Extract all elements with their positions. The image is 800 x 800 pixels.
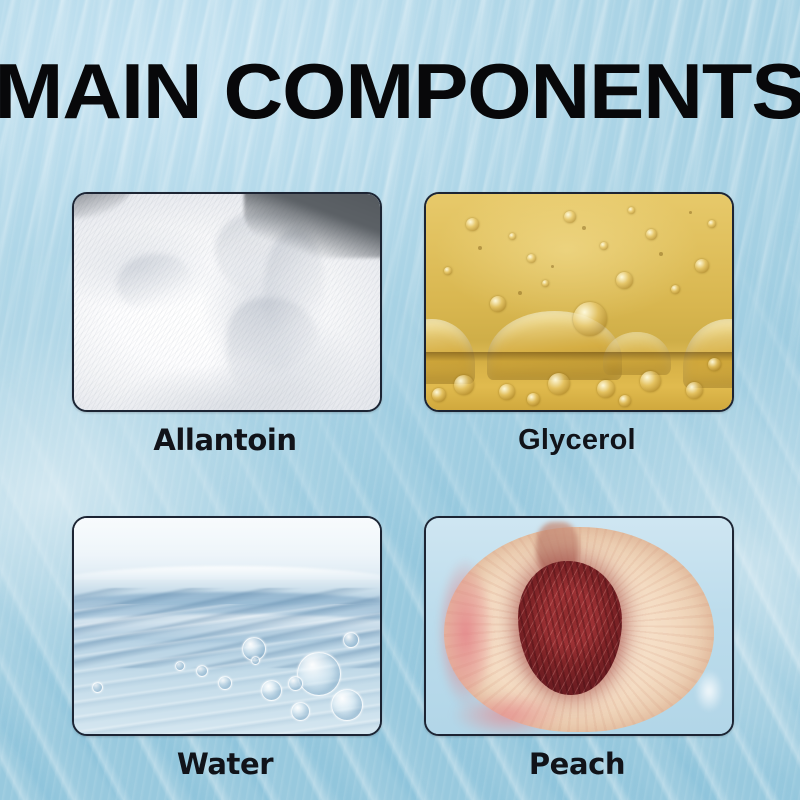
oil-bubble [564,211,576,223]
water-bubble [331,689,363,721]
component-image-peach [424,516,734,736]
oil-speck [518,291,522,295]
oil-bubble [573,302,607,336]
component-label-peach: Peach [424,749,730,781]
oil-bubble [695,259,709,273]
water-splash [689,661,729,721]
water-bubble [218,676,232,690]
water-bubble [261,680,282,701]
oil-bubble [708,358,721,371]
component-label-allantoin: Allantoin [72,425,378,457]
components-grid: Allantoin [72,192,730,734]
oil-bubble [509,233,516,240]
water-bubble [297,652,341,696]
component-card-glycerol: Glycerol [424,192,730,457]
oil-speck [659,252,663,256]
peach-image [426,518,732,734]
oil-bubble [597,380,615,398]
oil-bubble [454,375,474,395]
oil-speck [478,246,482,250]
water-bubble [288,676,303,691]
golden-oil-image [426,194,732,410]
component-label-water: Water [72,749,378,781]
component-label-glycerol: Glycerol [424,425,730,457]
oil-bubble [600,242,608,250]
component-image-glycerol [424,192,734,412]
oil-bubble [616,272,633,289]
water-surface-image [74,518,380,734]
oil-bubble [527,393,540,406]
oil-bubble [708,220,716,228]
oil-bubble [628,207,635,214]
oil-bubble [490,296,506,312]
main-components-poster: MAIN COMPONENTS Allantoin [0,0,800,800]
oil-bubble [671,285,680,294]
white-powder-image [74,194,380,410]
component-card-peach: Peach [424,516,730,781]
page-title: MAIN COMPONENTS [0,52,800,130]
component-card-water: Water [72,516,378,781]
water-bubble [291,702,310,721]
water-bubble [175,661,185,671]
oil-bubble [619,395,631,407]
oil-bubble [466,218,479,231]
component-card-allantoin: Allantoin [72,192,378,457]
oil-bubble [686,382,703,399]
component-image-allantoin [72,192,382,412]
component-image-water [72,516,382,736]
oil-bubble [646,229,657,240]
